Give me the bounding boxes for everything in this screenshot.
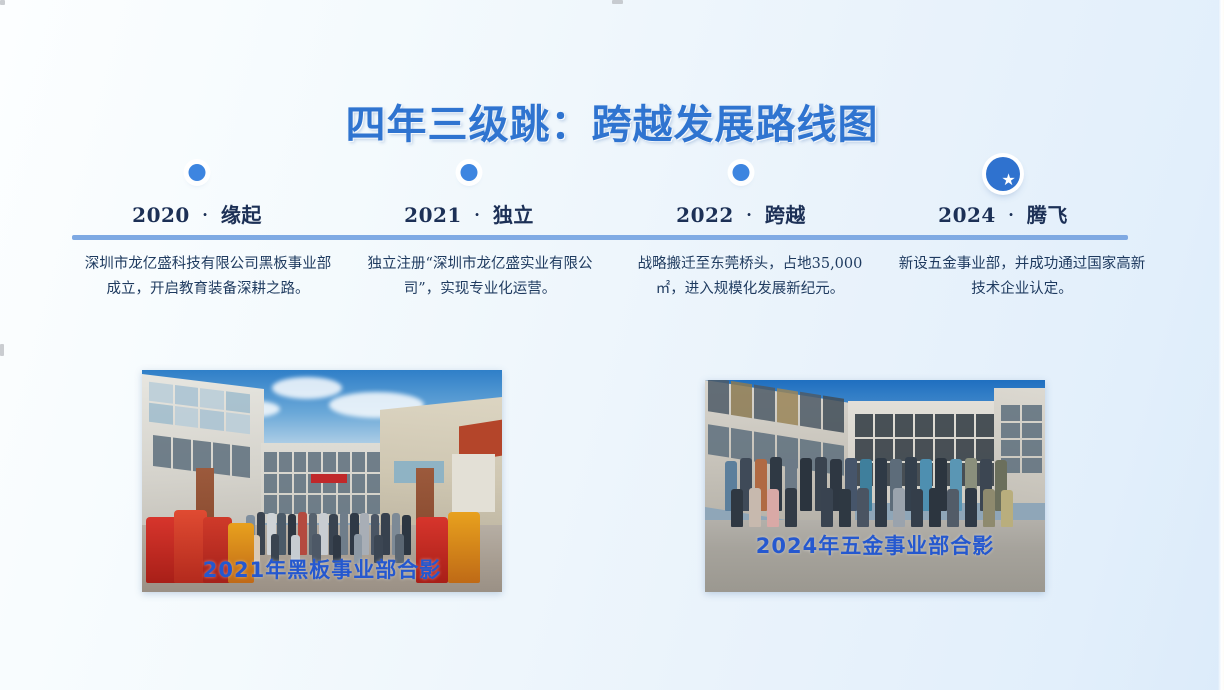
milestone-descriptions: 深圳市龙亿盛科技有限公司黑板事业部成立，开启教育装备深耕之路。 独立注册“深圳市…	[72, 252, 1156, 352]
milestone-2024[interactable]: ★ 2024 · 腾飞	[878, 155, 1128, 228]
milestone-year: 2024	[938, 203, 996, 227]
milestone-separator: ·	[197, 205, 213, 224]
milestone-marker-wrap-2020	[72, 155, 322, 199]
page-title: 四年三级跳：跨越发展路线图	[0, 92, 1224, 150]
entry-wall	[452, 454, 495, 512]
selection-handle-left-middle[interactable]	[0, 344, 4, 356]
timeline-milestones: 2020 · 缘起 2021 · 独立 2022 · 跨越	[72, 155, 1128, 240]
milestone-label-2020: 2020 · 缘起	[72, 199, 322, 228]
milestone-name: 跨越	[765, 203, 806, 227]
milestone-description-2024: 新设五金事业部，并成功通过国家高新技术企业认定。	[896, 252, 1148, 302]
milestone-name: 缘起	[221, 203, 262, 227]
milestone-year: 2022	[676, 203, 734, 227]
milestone-marker-wrap-2022	[616, 155, 866, 199]
milestone-2021[interactable]: 2021 · 独立	[344, 155, 594, 228]
building-back-windows	[264, 452, 379, 514]
milestone-marker-wrap-2021	[344, 155, 594, 199]
milestone-description-2022: 战略搬迁至东莞桥头，占地35,000㎡，进入规模化发展新纪元。	[624, 252, 876, 302]
red-banner	[311, 474, 347, 483]
milestone-year: 2021	[404, 203, 462, 227]
timeline-dot-icon	[461, 164, 478, 181]
photo-caption-2024: 2024年五金事业部合影	[705, 530, 1045, 560]
slide-right-edge	[1218, 0, 1224, 690]
photo-crowd	[725, 450, 1024, 528]
milestone-2022[interactable]: 2022 · 跨越	[616, 155, 866, 228]
timeline-dot-icon	[733, 164, 750, 181]
selection-handle-top-left[interactable]	[0, 0, 5, 5]
selection-handle-top-center[interactable]	[612, 0, 623, 4]
milestone-description-2021: 独立注册“深圳市龙亿盛实业有限公司”，实现专业化运营。	[354, 252, 606, 302]
milestone-separator: ·	[469, 205, 485, 224]
milestone-name: 腾飞	[1027, 203, 1068, 227]
cloud-shape	[272, 377, 342, 399]
milestone-label-2022: 2022 · 跨越	[616, 199, 866, 228]
milestone-marker-wrap-2024: ★	[878, 155, 1128, 199]
photo-2021-blackboard-division[interactable]: 2021年黑板事业部合影	[142, 370, 502, 592]
milestone-description-2020: 深圳市龙亿盛科技有限公司黑板事业部成立，开启教育装备深耕之路。	[82, 252, 334, 302]
milestone-label-2021: 2021 · 独立	[344, 199, 594, 228]
photo-caption-2021: 2021年黑板事业部合影	[142, 554, 502, 584]
timeline-dot-icon	[189, 164, 206, 181]
milestone-name: 独立	[493, 203, 534, 227]
milestone-2020[interactable]: 2020 · 缘起	[72, 155, 322, 228]
milestone-separator: ·	[741, 205, 757, 224]
milestone-year: 2020	[132, 203, 190, 227]
photo-2024-hardware-division[interactable]: 2024年五金事业部合影	[705, 380, 1045, 592]
star-icon: ★	[1000, 171, 1017, 188]
timeline-star-dot-icon: ★	[986, 157, 1020, 191]
slide-canvas: 四年三级跳：跨越发展路线图 2020 · 缘起 2021 · 独立	[0, 0, 1224, 690]
milestone-label-2024: 2024 · 腾飞	[878, 199, 1128, 228]
milestone-separator: ·	[1003, 205, 1019, 224]
